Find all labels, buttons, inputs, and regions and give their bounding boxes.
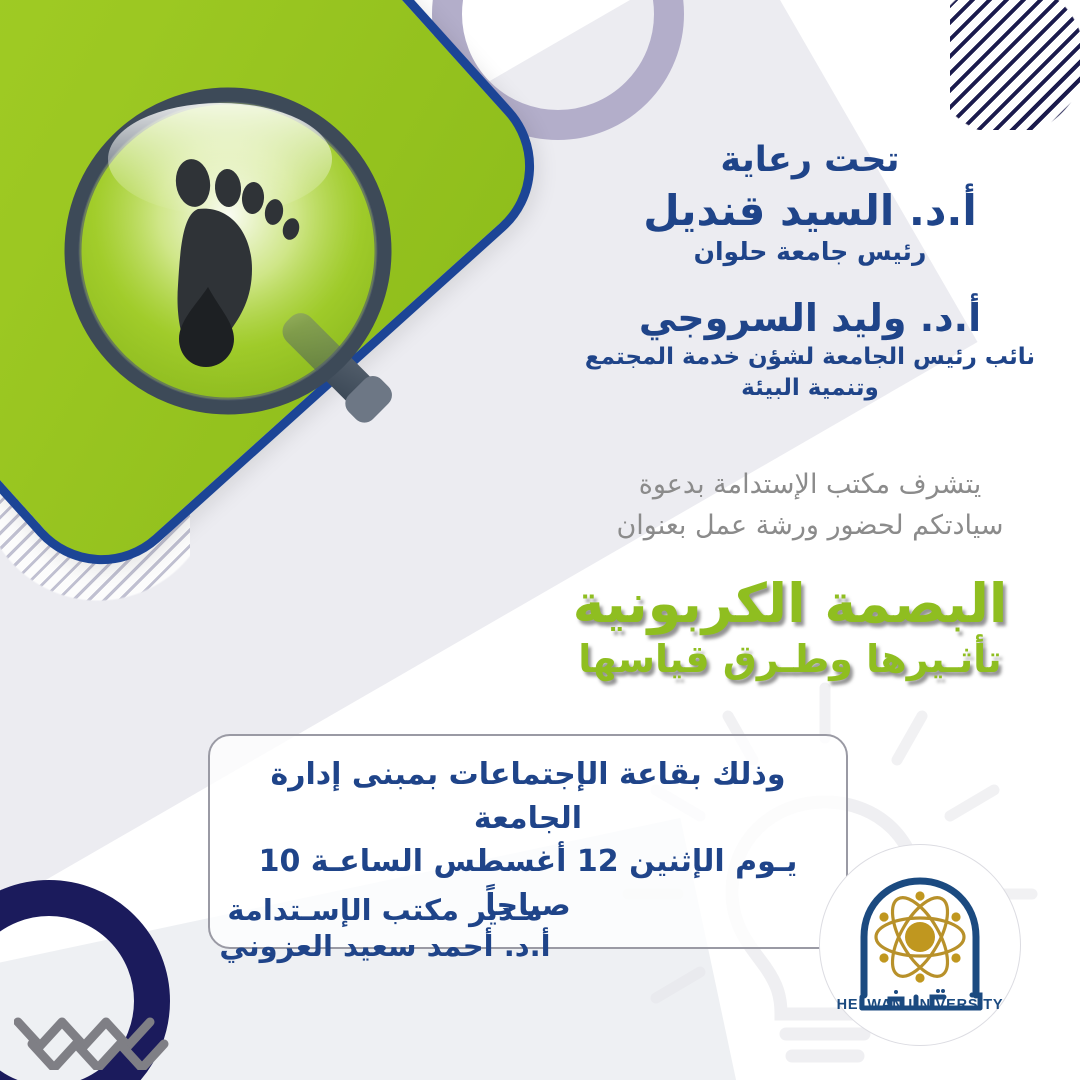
patronage-label: تحت رعاية <box>560 140 1060 180</box>
workshop-title: البصمة الكربونية <box>500 572 1080 635</box>
navy-ring <box>0 880 170 1080</box>
gray-striped-arc <box>0 380 190 610</box>
invitation-line-2: سيادتكم لحضور ورشة عمل بعنوان <box>560 506 1060 547</box>
poster-canvas: تحت رعاية أ.د. السيد قنديل رئيس جامعة حل… <box>0 0 1080 1080</box>
workshop-subtitle: تأثـيرها وطـرق قياسها <box>500 637 1080 681</box>
patronage-block: تحت رعاية أ.د. السيد قنديل رئيس جامعة حل… <box>560 140 1060 404</box>
navy-striped-circle <box>950 0 1080 130</box>
lavender-ring <box>432 0 684 140</box>
patron-role-secondary-line1: نائب رئيس الجامعة لشؤن خدمة المجتمع <box>560 342 1060 373</box>
gray-zigzag-lines <box>14 1000 194 1074</box>
invitation-block: يتشرف مكتب الإستدامة بدعوة سيادتكم لحضور… <box>560 465 1060 546</box>
signature-block: مـدير مكتب الإسـتدامة أ.د. أحمد سعيد الع… <box>175 893 595 963</box>
helwan-university-logo: HELWAN UNIVERSITY <box>820 845 1020 1045</box>
magnifier-footprint-icon <box>30 55 500 525</box>
signature-name: أ.د. أحمد سعيد العزوني <box>175 929 595 963</box>
patron-name-primary: أ.د. السيد قنديل <box>560 186 1060 235</box>
invitation-line-1: يتشرف مكتب الإستدامة بدعوة <box>560 465 1060 506</box>
headline-block: البصمة الكربونية تأثـيرها وطـرق قياسها <box>500 572 1080 681</box>
patron-name-secondary: أ.د. وليد السروجي <box>560 296 1060 340</box>
logo-english-name: HELWAN UNIVERSITY <box>820 997 1020 1013</box>
venue-location-line: وذلك بقاعة الإجتماعات بمبنى إدارة الجامع… <box>232 753 824 840</box>
signature-role: مـدير مكتب الإسـتدامة <box>175 893 595 927</box>
patron-role-primary: رئيس جامعة حلوان <box>560 237 1060 266</box>
patron-role-secondary-line2: وتنمية البيئة <box>560 373 1060 404</box>
green-card-shape <box>0 0 570 600</box>
